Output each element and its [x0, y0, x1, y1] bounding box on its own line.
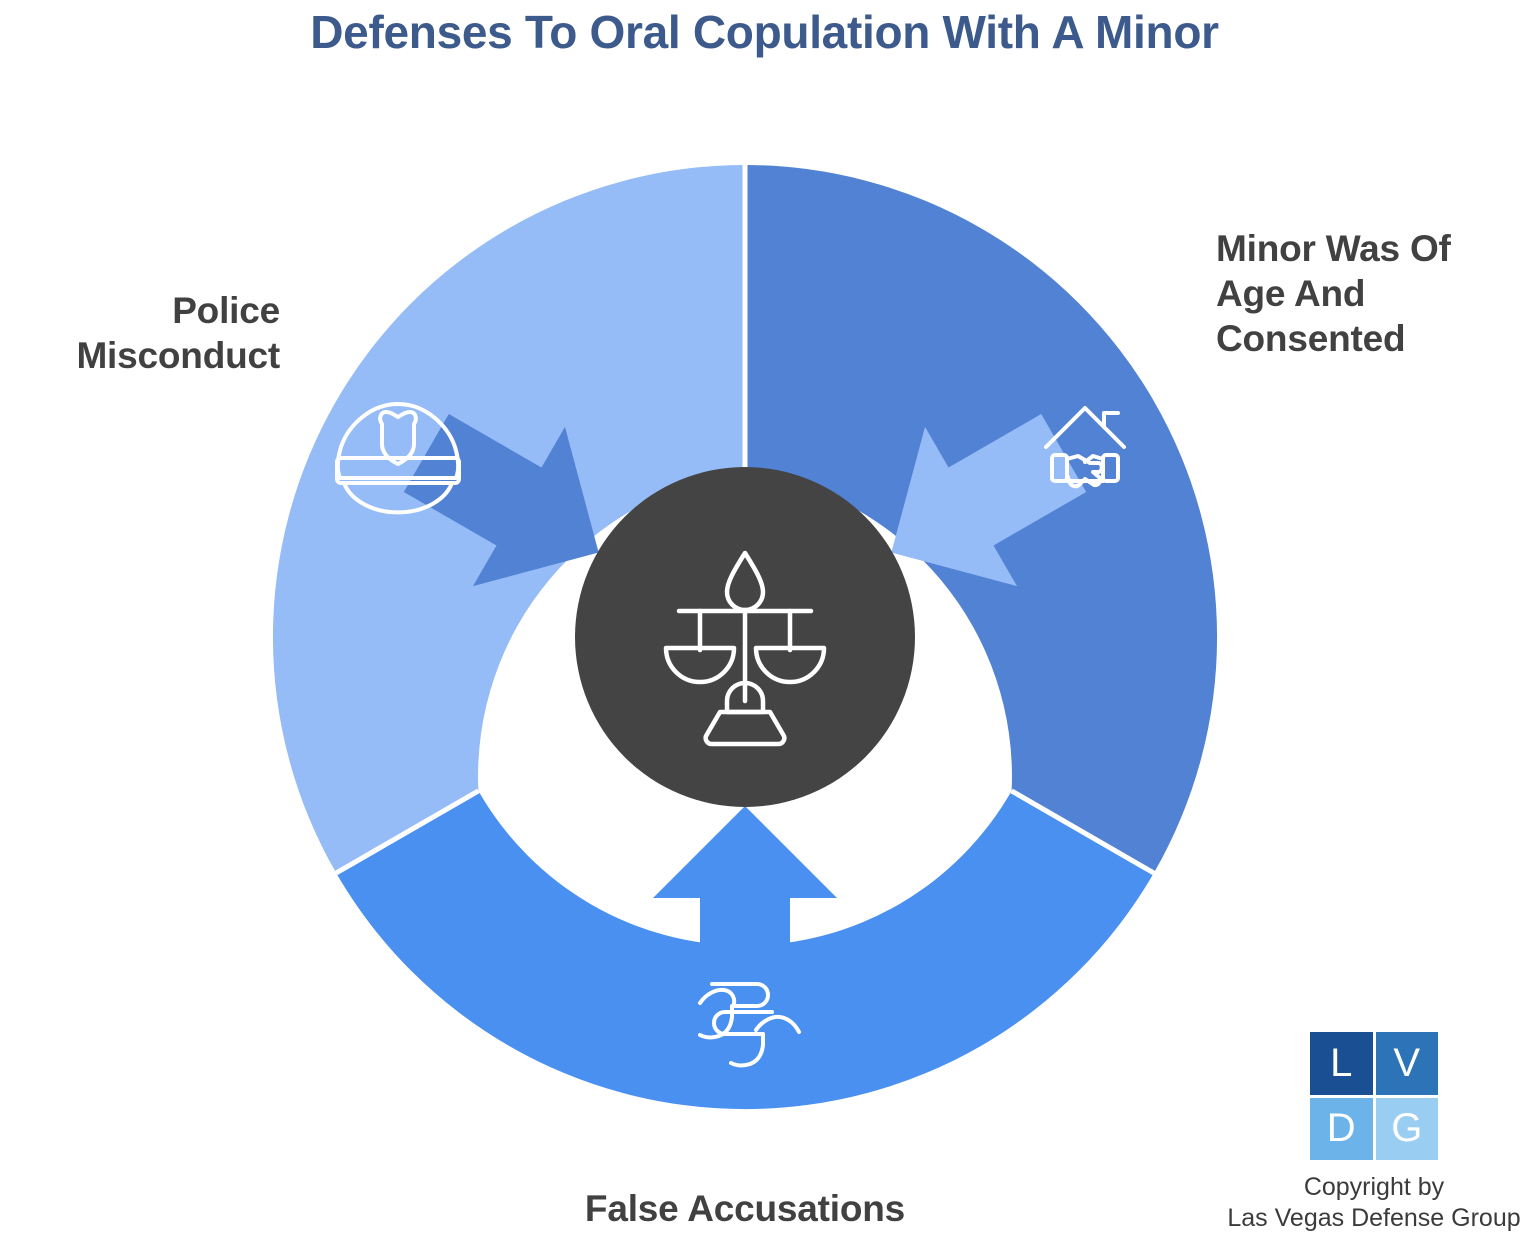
logo-letter-g: G: [1376, 1098, 1439, 1161]
logo-letter-v: V: [1376, 1032, 1439, 1095]
segment-label-police-line1: Police: [172, 290, 280, 331]
segment-label-false-accusations: False Accusations: [415, 1186, 1075, 1231]
segment-label-police-line2: Misconduct: [76, 335, 280, 376]
segment-label-police-misconduct: Police Misconduct: [0, 288, 280, 378]
copyright-line-1: Copyright by: [1224, 1172, 1524, 1203]
lvdg-logo-block: L V D G Copyright by Las Vegas Defense G…: [1224, 1032, 1524, 1233]
copyright-line-2: Las Vegas Defense Group: [1224, 1203, 1524, 1234]
lvdg-logo-grid: L V D G: [1310, 1032, 1438, 1160]
segment-label-minor-line1: Minor Was Of: [1216, 228, 1451, 269]
segment-label-minor-consented: Minor Was Of Age And Consented: [1216, 226, 1516, 361]
segment-label-minor-line3: Consented: [1216, 318, 1405, 359]
segment-label-minor-line2: Age And: [1216, 273, 1365, 314]
copyright-text: Copyright by Las Vegas Defense Group: [1224, 1172, 1524, 1233]
logo-letter-d: D: [1310, 1098, 1373, 1161]
logo-letter-l: L: [1310, 1032, 1373, 1095]
